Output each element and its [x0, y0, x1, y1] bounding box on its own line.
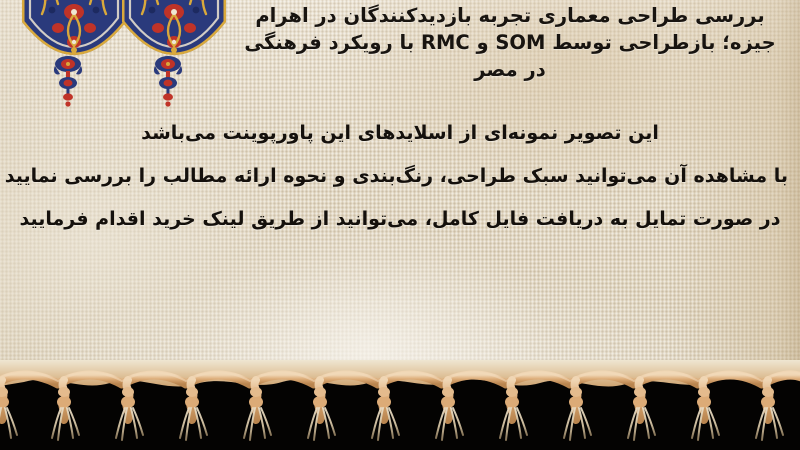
title-line-2: جیزه؛ بازطراحی توسط SOM و RMC با رویکرد …: [230, 29, 790, 56]
persian-pendant-ornament: [48, 54, 88, 114]
slide-canvas: بررسی طراحی معماری تجربه بازدیدکنندگان د…: [0, 0, 800, 450]
persian-pendant-ornament: [148, 54, 188, 114]
slide-title: بررسی طراحی معماری تجربه بازدیدکنندگان د…: [230, 2, 790, 83]
body-line-2: با مشاهده آن می‌توانید سبک طراحی، رنگ‌بن…: [12, 155, 788, 198]
slide-body-text: این تصویر نمونه‌ای از اسلایدهای این پاور…: [12, 112, 788, 241]
title-line-3: در مصر: [230, 56, 790, 83]
carpet-fringe-tassels: [0, 360, 800, 386]
body-line-3: در صورت تمایل به دریافت فایل کامل، می‌تو…: [12, 198, 788, 241]
body-line-1: این تصویر نمونه‌ای از اسلایدهای این پاور…: [12, 112, 788, 155]
title-line-1: بررسی طراحی معماری تجربه بازدیدکنندگان د…: [230, 2, 790, 29]
